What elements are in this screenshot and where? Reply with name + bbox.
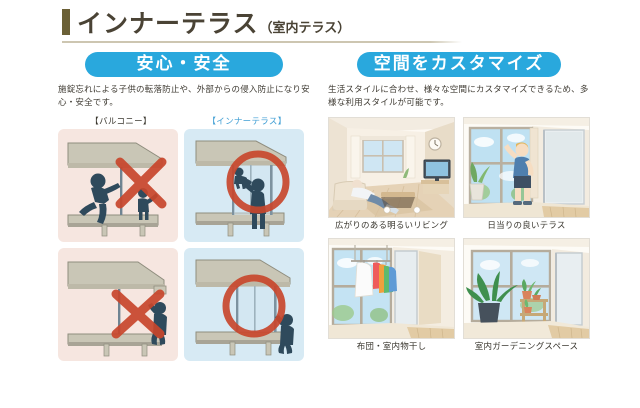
safety-panel-heading: 安心・安全 [85, 52, 283, 77]
title-divider [62, 41, 462, 43]
comparison-column-labels: 【バルコニー】 【インナーテラス】 [58, 115, 310, 127]
customize-panel-body: 生活スタイルに合わせ、様々な空間にカスタマイズできるため、多様な利用スタイルが可… [328, 84, 590, 109]
photo-indoor-laundry [328, 238, 455, 339]
illustration-inner-terrace-child-safe [184, 129, 304, 242]
illustration-balcony-intruder [58, 248, 178, 361]
photo-item-indoor-gardening: 室内ガーデニングスペース [463, 238, 590, 353]
page-title-sub: （室内テラス） [260, 17, 351, 36]
page-title: インナーテラス （室内テラス） [62, 6, 350, 39]
photo-living-room [328, 117, 455, 218]
photo-caption-indoor-laundry: 布団・室内物干し [328, 342, 455, 353]
customize-panel: 空間をカスタマイズ 生活スタイルに合わせ、様々な空間にカスタマイズできるため、多… [328, 52, 590, 359]
photo-indoor-gardening [463, 238, 590, 339]
photo-item-indoor-laundry: 布団・室内物干し [328, 238, 455, 353]
illustration-balcony-child-fall [58, 129, 178, 242]
title-accent-bar [62, 9, 70, 35]
photo-item-sunny-terrace: 日当りの良いテラス [463, 117, 590, 232]
illustration-inner-terrace-intruder-blocked [184, 248, 304, 361]
column-label-balcony: 【バルコニー】 [58, 115, 184, 127]
page-title-main: インナーテラス [77, 9, 259, 39]
cross-mark-icon [116, 294, 160, 334]
comparison-illustration-grid [58, 129, 310, 367]
photo-gallery: 広がりのある明るいリビング [328, 117, 590, 359]
photo-caption-sunny-terrace: 日当りの良いテラス [463, 221, 590, 232]
photo-item-living-room: 広がりのある明るいリビング [328, 117, 455, 232]
cross-mark-icon [120, 162, 162, 204]
photo-caption-living-room: 広がりのある明るいリビング [328, 221, 455, 232]
safety-panel-body: 施錠忘れによる子供の転落防止や、外部からの侵入防止になり安心・安全です。 [58, 84, 310, 109]
column-label-inner-terrace: 【インナーテラス】 [184, 115, 310, 127]
infographic-page: インナーテラス （室内テラス） 安心・安全 施錠忘れによる子供の転落防止や、外部… [0, 0, 640, 408]
customize-panel-heading: 空間をカスタマイズ [357, 52, 561, 77]
photo-sunny-terrace [463, 117, 590, 218]
safety-panel: 安心・安全 施錠忘れによる子供の転落防止や、外部からの侵入防止になり安心・安全で… [58, 52, 310, 367]
photo-caption-indoor-gardening: 室内ガーデニングスペース [463, 342, 590, 353]
